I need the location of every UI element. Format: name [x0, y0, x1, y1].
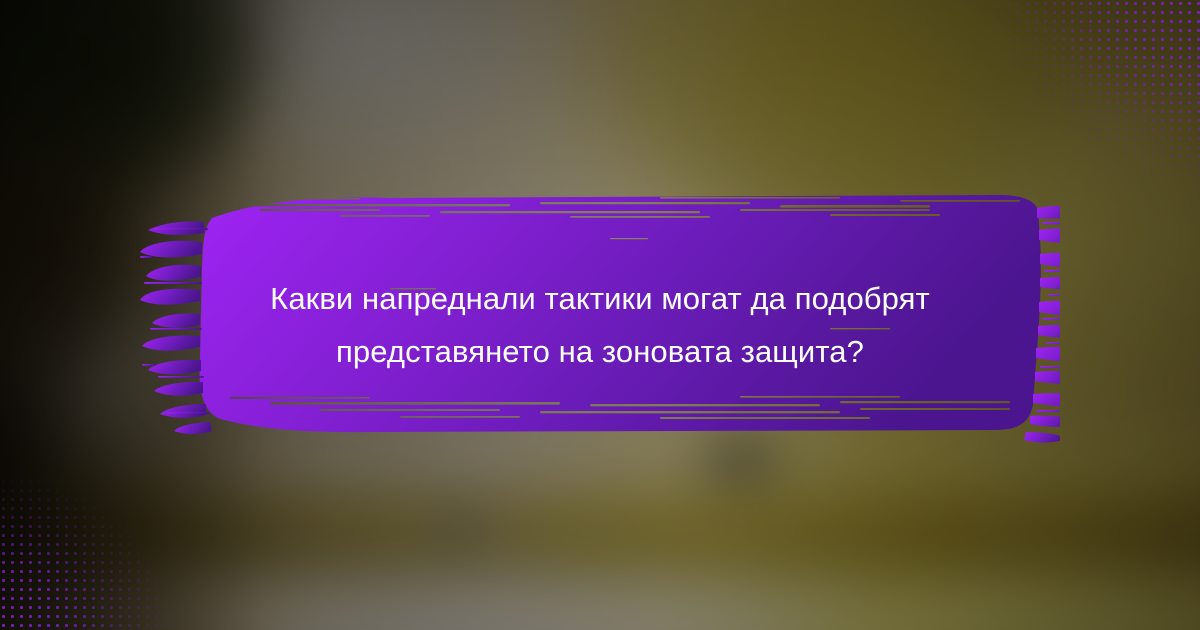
quote-card: Какви напреднали тактики могат да подобр… — [0, 0, 1200, 630]
headline-line-2: представянето на зоновата защита? — [170, 325, 1030, 378]
halftone-dots-bottom-left — [0, 450, 200, 630]
headline: Какви напреднали тактики могат да подобр… — [0, 272, 1200, 378]
headline-line-1: Какви напреднали тактики могат да подобр… — [170, 272, 1030, 325]
